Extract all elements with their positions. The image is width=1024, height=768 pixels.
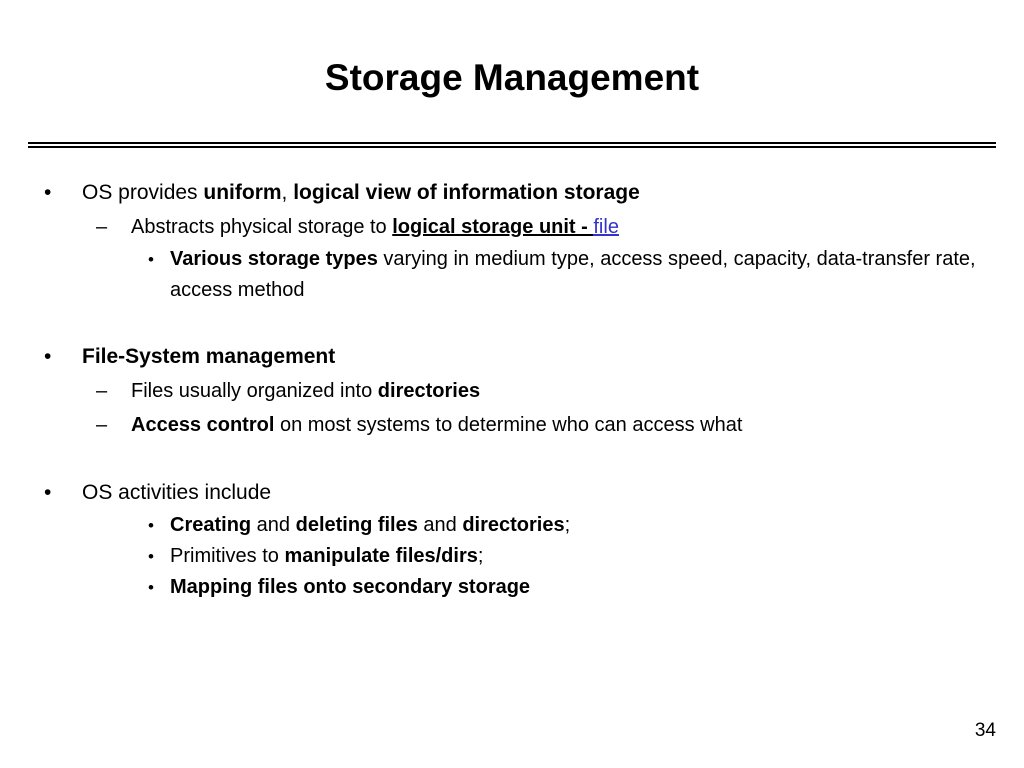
text-run-bold: directories bbox=[378, 380, 480, 402]
text-run-bold-underline: logical storage unit - bbox=[392, 216, 593, 238]
bullet-dot-icon: • bbox=[44, 476, 64, 510]
text-run-plain: ; bbox=[565, 514, 571, 536]
bullet-os-provides-uniform-view: • OS provides uniform, logical view of i… bbox=[0, 176, 1024, 210]
bullet-dash-icon: – bbox=[96, 408, 120, 442]
text-run-bold: uniform bbox=[203, 181, 281, 204]
bullet-dot-icon: • bbox=[148, 510, 166, 541]
title-divider-rule bbox=[28, 142, 996, 148]
divider-line-bottom bbox=[28, 146, 996, 148]
text-run-plain: on most systems to determine who can acc… bbox=[274, 414, 742, 436]
bullet-text: Various storage types varying in medium … bbox=[170, 248, 976, 301]
bullet-creating-deleting-files: • Creating and deleting files and direct… bbox=[0, 510, 1024, 541]
text-run-plain: OS activities include bbox=[82, 481, 271, 504]
text-run-bold: Creating bbox=[170, 514, 251, 536]
text-run-plain: OS provides bbox=[82, 181, 203, 204]
text-run-plain: Primitives to bbox=[170, 545, 284, 567]
bullet-os-activities-include: • OS activities include bbox=[0, 476, 1024, 510]
page-title: Storage Management bbox=[0, 56, 1024, 100]
slide-body: • OS provides uniform, logical view of i… bbox=[0, 176, 1024, 603]
text-run-bold: Various storage types bbox=[170, 248, 378, 270]
bullet-dash-icon: – bbox=[96, 374, 120, 408]
text-run-plain: Files usually organized into bbox=[131, 380, 378, 402]
text-run-bold: Mapping files onto secondary storage bbox=[170, 576, 530, 598]
text-run-plain: Abstracts physical storage to bbox=[131, 216, 392, 238]
bullet-access-control: – Access control on most systems to dete… bbox=[0, 408, 1024, 442]
section-spacer bbox=[0, 442, 1024, 476]
presentation-slide: Storage Management • OS provides uniform… bbox=[0, 0, 1024, 768]
bullet-text: Files usually organized into directories bbox=[131, 380, 480, 402]
bullet-dot-icon: • bbox=[148, 541, 166, 572]
bullet-text: OS activities include bbox=[82, 481, 271, 504]
text-run-plain: ; bbox=[478, 545, 484, 567]
text-run-plain: , bbox=[282, 181, 294, 204]
bullet-text: Abstracts physical storage to logical st… bbox=[131, 216, 619, 238]
text-run-bold: directories bbox=[462, 514, 564, 536]
bullet-text: OS provides uniform, logical view of inf… bbox=[82, 181, 640, 204]
text-run-plain: and bbox=[418, 514, 462, 536]
bullet-dot-icon: • bbox=[148, 244, 166, 275]
text-run-plain: and bbox=[251, 514, 295, 536]
text-run-bold: deleting files bbox=[296, 514, 418, 536]
bullet-abstracts-physical-storage: – Abstracts physical storage to logical … bbox=[0, 210, 1024, 244]
text-run-bold: File-System management bbox=[82, 345, 335, 368]
bullet-dot-icon: • bbox=[44, 340, 64, 374]
section-spacer bbox=[0, 306, 1024, 340]
file-link[interactable]: file bbox=[593, 216, 619, 238]
bullet-text: Creating and deleting files and director… bbox=[170, 514, 570, 536]
text-run-bold: Access control bbox=[131, 414, 274, 436]
bullet-file-system-management: • File-System management bbox=[0, 340, 1024, 374]
bullet-files-organized-into-directories: – Files usually organized into directori… bbox=[0, 374, 1024, 408]
bullet-various-storage-types: • Various storage types varying in mediu… bbox=[0, 244, 1024, 306]
bullet-text: Access control on most systems to determ… bbox=[131, 414, 742, 436]
text-run-bold: logical view of information storage bbox=[293, 181, 640, 204]
bullet-text: Primitives to manipulate files/dirs; bbox=[170, 545, 483, 567]
bullet-text: File-System management bbox=[82, 345, 335, 368]
bullet-dash-icon: – bbox=[96, 210, 120, 244]
bullet-group-information-storage: • OS provides uniform, logical view of i… bbox=[0, 176, 1024, 306]
bullet-group-file-system-management: • File-System management – Files usually… bbox=[0, 340, 1024, 442]
bullet-mapping-files-secondary-storage: • Mapping files onto secondary storage bbox=[0, 572, 1024, 603]
divider-line-top bbox=[28, 142, 996, 144]
text-run-bold: manipulate files/dirs bbox=[284, 545, 477, 567]
page-number: 34 bbox=[975, 720, 996, 742]
bullet-dot-icon: • bbox=[148, 572, 166, 603]
bullet-dot-icon: • bbox=[44, 176, 64, 210]
bullet-text: Mapping files onto secondary storage bbox=[170, 576, 530, 598]
bullet-group-os-activities: • OS activities include • Creating and d… bbox=[0, 476, 1024, 603]
bullet-primitives-manipulate-files: • Primitives to manipulate files/dirs; bbox=[0, 541, 1024, 572]
